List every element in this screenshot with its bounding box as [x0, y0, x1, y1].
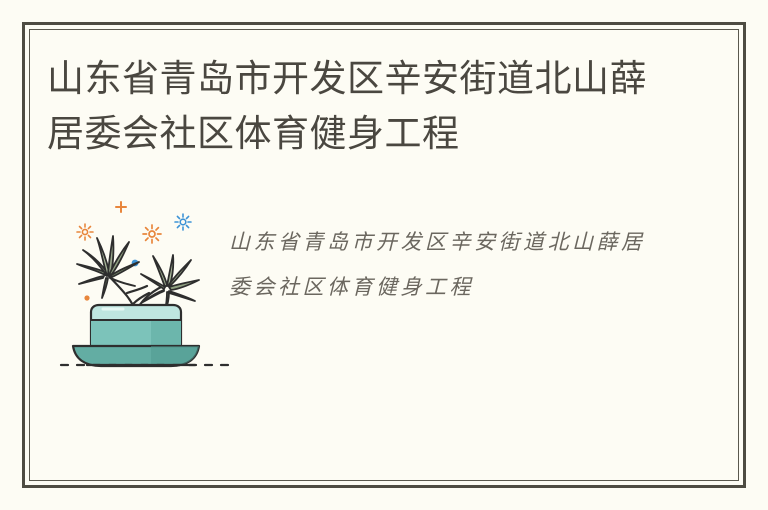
- body-paragraph: 山东省青岛市开发区辛安街道北山薛居委会社区体育健身工程: [229, 220, 649, 310]
- sparkle-plus-icon: [116, 202, 126, 212]
- sparkle-starburst-orange-left: [77, 224, 93, 240]
- sparkle-starburst-blue-right: [175, 214, 191, 230]
- sparkle-dot-orange: [84, 295, 89, 300]
- sparkle-starburst-orange-center: [143, 225, 161, 243]
- card-content: 山东省青岛市开发区辛安街道北山薛居委会社区体育健身工程: [29, 29, 739, 481]
- article-card: 山东省青岛市开发区辛安街道北山薛居委会社区体育健身工程: [0, 0, 768, 510]
- succulent-rosette-left: [77, 236, 139, 298]
- pot-saucer: [73, 346, 199, 366]
- page-title: 山东省青岛市开发区辛安街道北山薛居委会社区体育健身工程: [47, 51, 657, 161]
- potted-plant-illustration: [51, 194, 241, 374]
- body-area: 山东省青岛市开发区辛安街道北山薛居委会社区体育健身工程: [29, 194, 739, 394]
- succulent-rosette-right: [141, 255, 199, 312]
